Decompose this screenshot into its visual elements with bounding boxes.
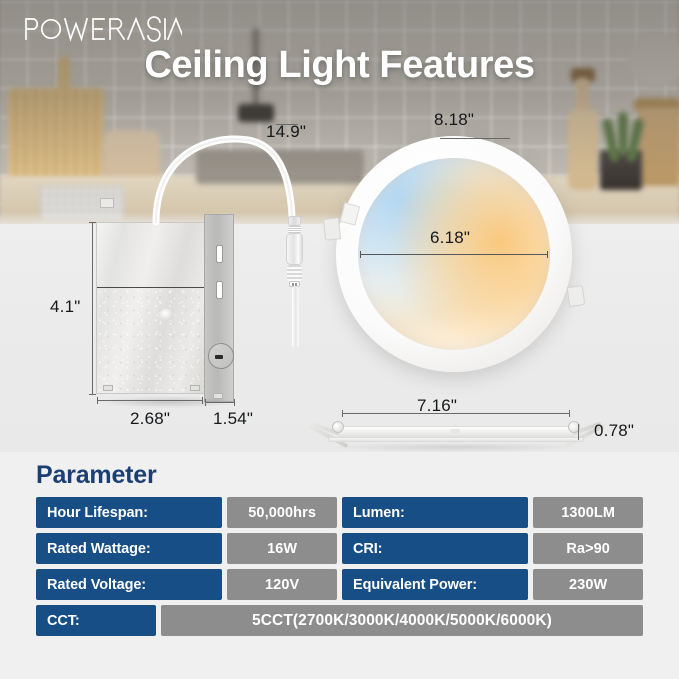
param-label-cri: CRI: (342, 533, 528, 564)
param-value-hour-lifespan: 50,000hrs (227, 497, 337, 528)
galvanized-texture (97, 288, 204, 395)
junction-box-side-panel (204, 214, 234, 402)
jbox-height-tick (89, 394, 96, 395)
jbox-width-tick (97, 397, 98, 404)
junction-box-foot (190, 385, 200, 391)
panel-outer-leader (440, 138, 510, 139)
panel-spring-clip (567, 285, 586, 307)
led-panel-side-profile (322, 412, 590, 452)
junction-box-foot (103, 385, 113, 391)
junction-box (96, 214, 236, 399)
param-label-rated-wattage: Rated Wattage: (36, 533, 222, 564)
panel-profile-center-mark (450, 429, 460, 433)
panel-thickness-leader (578, 424, 579, 440)
connector-cable (150, 130, 310, 230)
param-label-lumen: Lumen: (342, 497, 528, 528)
param-value-equivalent-power: 230W (533, 569, 643, 600)
param-value-rated-wattage: 16W (227, 533, 337, 564)
jbox-depth-leader (205, 402, 235, 403)
dimension-jbox-depth: 1.54" (213, 409, 253, 429)
jbox-depth-tick (234, 399, 235, 406)
panel-profile-shadow (332, 444, 580, 452)
knockout-slot-icon (216, 245, 223, 263)
junction-box-dimple (159, 309, 174, 321)
param-value-cct: 5CCT(2700K/3000K/4000K/5000K/6000K) (161, 605, 643, 636)
brand-logo (22, 14, 182, 44)
table-row: Rated Wattage: 16W CRI: Ra>90 (36, 533, 643, 564)
param-label-rated-voltage: Rated Voltage: (36, 569, 222, 600)
quick-connector (286, 216, 303, 290)
junction-box-mounting-tab (100, 198, 114, 208)
cutout-width-tick (569, 410, 570, 417)
param-value-rated-voltage: 120V (227, 569, 337, 600)
dimension-cable-length: 14.9" (266, 122, 306, 142)
param-value-lumen: 1300LM (533, 497, 643, 528)
connector-body (286, 233, 303, 265)
page-title: Ceiling Light Features (0, 44, 679, 87)
jbox-height-tick (89, 222, 96, 223)
spring-clip-hub (332, 421, 344, 433)
param-label-hour-lifespan: Hour Lifespan: (36, 497, 222, 528)
param-label-cct: CCT: (36, 605, 156, 636)
dimension-cutout-diameter: 7.16" (417, 396, 457, 416)
jbox-depth-tick (205, 399, 206, 406)
table-row: Hour Lifespan: 50,000hrs Lumen: 1300LM (36, 497, 643, 528)
dimension-panel-lit-diameter: 6.18" (430, 228, 470, 248)
dimension-panel-outer-diameter: 8.18" (434, 110, 474, 130)
param-label-equivalent-power: Equivalent Power: (342, 569, 528, 600)
panel-diameter-measure-line (360, 254, 548, 255)
led-ceiling-panel (336, 136, 572, 372)
connector-grip (287, 265, 302, 281)
parameter-heading: Parameter (36, 461, 157, 490)
junction-box-front-panel (96, 222, 204, 394)
param-value-cri: Ra>90 (533, 533, 643, 564)
dimension-panel-thickness: 0.78" (594, 421, 634, 441)
parameter-table: Hour Lifespan: 50,000hrs Lumen: 1300LM R… (36, 497, 643, 641)
jbox-width-tick (202, 397, 203, 404)
panel-profile-flange (328, 437, 584, 442)
cutout-width-tick (342, 410, 343, 417)
panel-spring-clip (323, 217, 341, 241)
table-row: Rated Voltage: 120V Equivalent Power: 23… (36, 569, 643, 600)
round-knockout-icon (208, 343, 234, 369)
knockout-slot-icon (216, 281, 223, 299)
jbox-width-leader (97, 400, 203, 401)
product-infographic: Ceiling Light Features (0, 0, 679, 679)
table-row-cct: CCT: 5CCT(2700K/3000K/4000K/5000K/6000K) (36, 605, 643, 636)
connector-collar (288, 216, 301, 226)
dimension-jbox-width: 2.68" (130, 409, 170, 429)
dimension-jbox-height: 4.1" (50, 297, 80, 317)
connector-cable-tail (292, 286, 299, 348)
jbox-height-leader (92, 222, 93, 394)
